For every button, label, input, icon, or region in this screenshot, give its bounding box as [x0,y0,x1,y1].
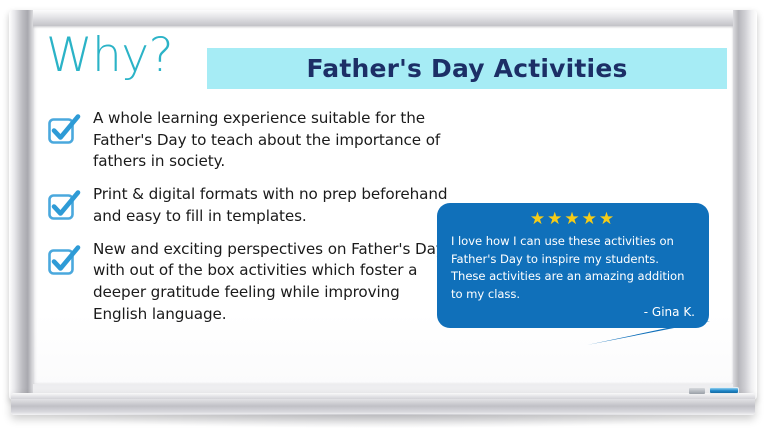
list-item: A whole learning experience suitable for… [47,108,455,173]
list-item: Print & digital formats with no prep bef… [47,184,455,227]
page-title: Father's Day Activities [306,54,627,83]
marker-tray-lip [11,393,755,399]
headline-row: Why? Father's Day Activities [33,26,733,104]
title-band: Father's Day Activities [207,48,727,89]
list-item-label: New and exciting perspectives on Father'… [93,239,455,326]
checkbox-checked-icon [47,190,81,222]
testimonial-quote: I love how I can use these activities on… [451,233,697,304]
why-heading: Why? [46,32,173,79]
list-item-label: Print & digital formats with no prep bef… [93,184,455,227]
whiteboard-shadow [35,414,735,428]
benefits-list: A whole learning experience suitable for… [47,108,455,337]
whiteboard-frame-top [9,10,757,26]
whiteboard-frame-right [733,10,757,400]
slide-content: Why? Father's Day Activities A whole lea… [33,26,733,384]
testimonial-card: ★★★★★ I love how I can use these activit… [437,203,709,328]
list-item-label: A whole learning experience suitable for… [93,108,455,173]
eraser-icon [689,388,705,394]
testimonial-author: - Gina K. [644,305,695,319]
marker-tray-items [689,387,739,394]
whiteboard: Why? Father's Day Activities A whole lea… [9,10,757,400]
blue-marker-icon [709,387,739,394]
whiteboard-frame-left [9,10,33,400]
list-item: New and exciting perspectives on Father'… [47,239,455,326]
checkbox-checked-icon [47,114,81,146]
checkbox-checked-icon [47,245,81,277]
marker-tray [11,393,755,415]
star-rating-icon: ★★★★★ [437,210,709,227]
